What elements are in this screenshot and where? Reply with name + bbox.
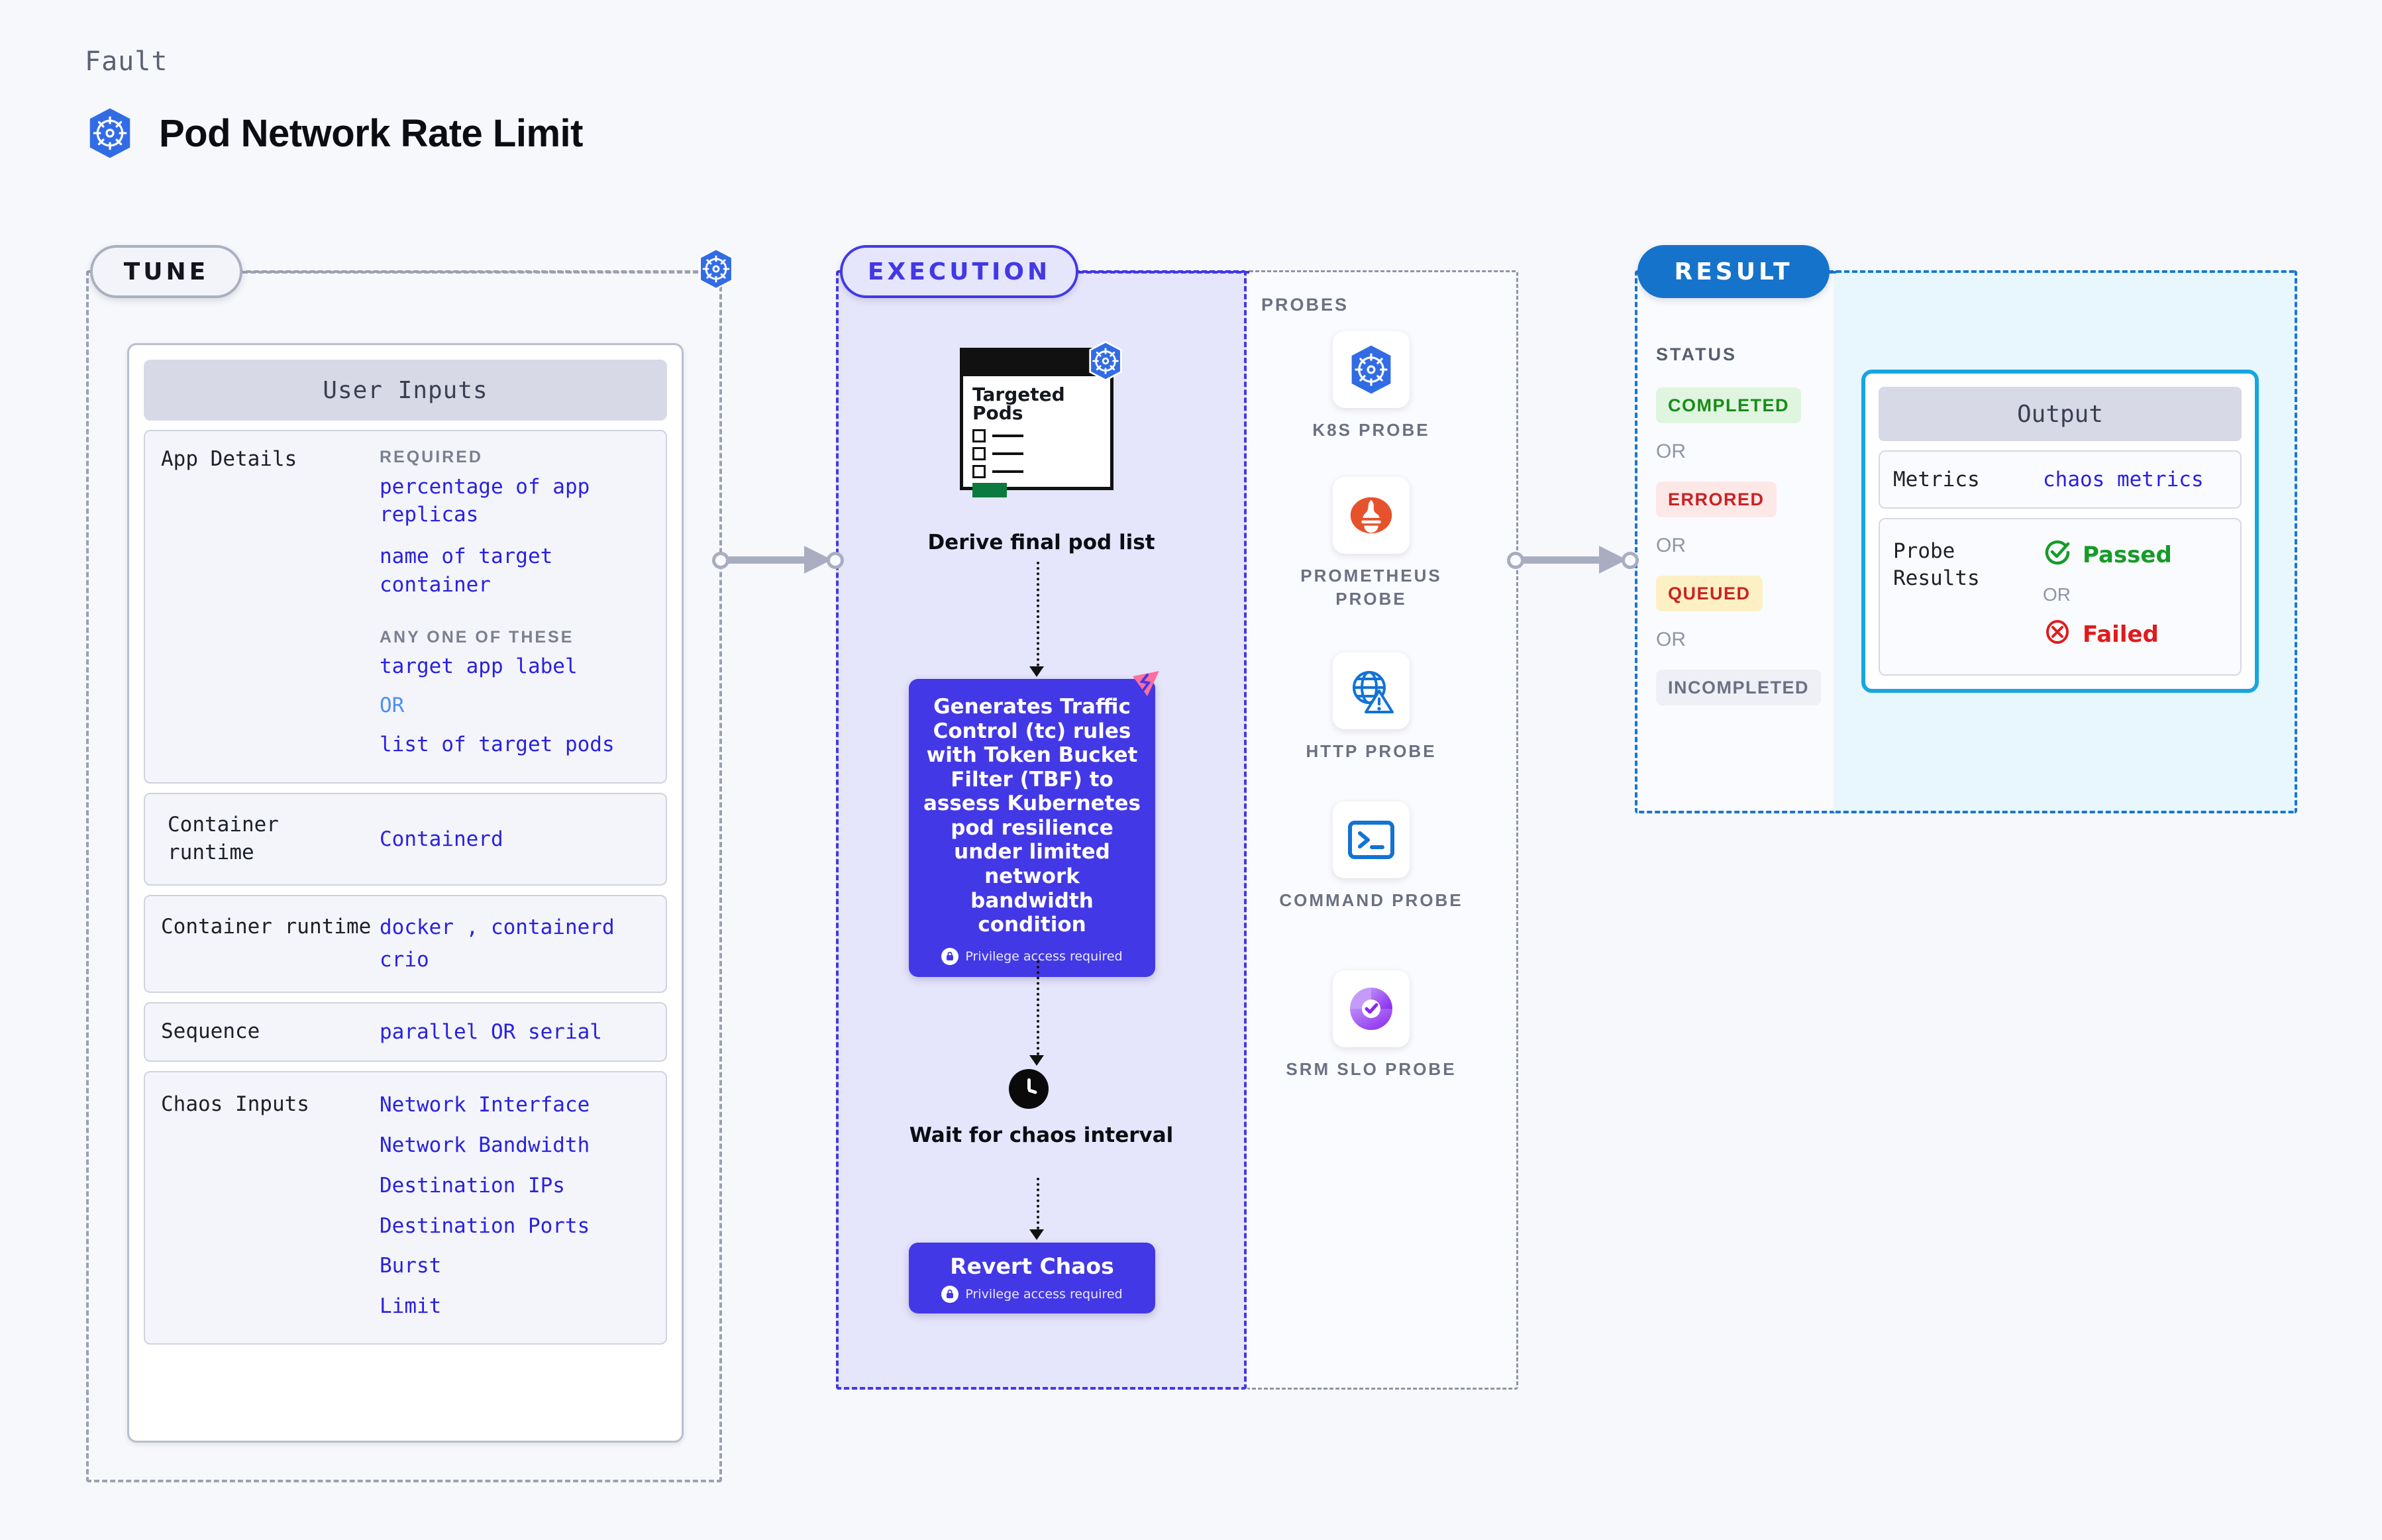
probe-item-srm-slo[interactable]: SRM SLO PROBE [1272,970,1471,1081]
chaos-action-card[interactable]: Generates Traffic Control (tc) rules wit… [909,679,1155,977]
globe-warning-icon [1333,652,1410,729]
list-item [972,429,1110,442]
privilege-note: Privilege access required [922,1286,1142,1303]
lock-icon [941,1286,958,1303]
value-item[interactable]: docker , containerd [380,913,650,942]
value-item[interactable]: Network Bandwidth [380,1131,650,1160]
clock-icon [1009,1069,1049,1109]
checkbox-icon [972,465,986,478]
status-badge-completed: COMPLETED [1656,387,1801,423]
row-label: App Details [161,446,373,474]
stage-badge-result[interactable]: RESULT [1637,245,1830,298]
probe-label: PROMETHEUS PROBE [1272,564,1471,611]
table-row: Probe Results Passed OR [1879,518,2242,676]
value-or: OR [380,692,650,720]
value-item[interactable]: chaos metrics [2043,468,2227,491]
table-row: Chaos Inputs Network Interface Network B… [144,1071,667,1345]
checkbox-icon [972,429,986,442]
kubernetes-icon [86,107,134,159]
passed-label: Passed [2083,542,2172,568]
value-item[interactable]: Burst [380,1252,650,1280]
privilege-note: Privilege access required [923,948,1141,965]
value-item[interactable]: Destination IPs [380,1172,650,1200]
tune-badge-connector [242,271,706,274]
page-title: Pod Network Rate Limit [159,111,583,156]
probe-label: K8S PROBE [1272,419,1471,442]
value-item[interactable]: Limit [380,1292,650,1321]
row-label: Container runtime [161,913,373,941]
probe-result-failed: Failed [2043,617,2227,652]
status-badge-incompleted: INCOMPLETED [1656,670,1821,705]
value-item[interactable]: list of target pods [380,731,650,759]
row-values: parallel OR serial [380,1018,650,1047]
group-caption: REQUIRED [380,446,650,469]
chaos-action-text: Generates Traffic Control (tc) rules wit… [923,695,1141,937]
list-item [972,465,1110,478]
probe-item-http[interactable]: HTTP PROBE [1272,652,1471,763]
connector-execution-to-result [1509,547,1641,572]
status-badge-errored: ERRORED [1656,482,1777,517]
user-inputs-title: User Inputs [144,360,667,421]
table-row: Metrics chaos metrics [1879,450,2242,509]
row-values: Containerd [380,825,650,854]
progress-bar [972,483,1007,497]
failed-label: Failed [2083,621,2159,648]
value-item[interactable]: Network Interface [380,1091,650,1119]
check-circle-icon [2043,538,2072,572]
value-item[interactable]: crio [380,946,650,974]
execution-badge-connector [1078,271,1249,274]
revert-chaos-card[interactable]: Revert Chaos Privilege access required [909,1243,1155,1313]
terminal-icon [1333,801,1410,878]
row-label: Metrics [1893,466,2032,493]
row-values: Network Interface Network Bandwidth Dest… [380,1091,650,1321]
table-row: App Details REQUIRED percentage of app r… [144,430,667,784]
user-inputs-card: User Inputs App Details REQUIRED percent… [127,343,684,1443]
value-item[interactable]: percentage of app replicas [380,473,650,530]
probe-item-command[interactable]: COMMAND PROBE [1272,801,1471,912]
srm-slo-icon [1333,970,1410,1047]
table-row: Container runtime Containerd [144,793,667,886]
list-item [972,447,1110,460]
table-row: Container runtime docker , containerd cr… [144,895,667,993]
eyebrow-label: Fault [85,46,168,77]
probe-item-k8s[interactable]: K8S PROBE [1272,331,1471,442]
step-label-derive-pod-list: Derive final pod list [836,530,1247,556]
status-badge-queued: QUEUED [1656,576,1763,611]
or-label: OR [1656,535,1686,557]
probe-label: HTTP PROBE [1272,740,1471,763]
row-label: Container runtime [161,811,373,867]
revert-chaos-title: Revert Chaos [922,1253,1142,1279]
value-item[interactable]: Destination Ports [380,1212,650,1241]
value-item[interactable]: name of target container [380,542,650,599]
output-card: Output Metrics chaos metrics Probe Resul… [1861,370,2259,693]
prometheus-icon [1333,477,1410,554]
page-title-row: Pod Network Rate Limit [86,107,583,159]
connector-tune-to-execution [714,547,847,572]
placeholder-line [992,452,1023,455]
row-values: chaos metrics [2043,468,2227,491]
x-circle-icon [2043,617,2072,652]
or-label: OR [1656,440,1686,463]
row-label: Sequence [161,1018,373,1046]
row-label: Chaos Inputs [161,1091,373,1119]
or-label: OR [1656,629,1686,651]
status-section-title: STATUS [1656,344,1737,365]
privilege-note-text: Privilege access required [965,949,1122,964]
checkbox-icon [972,447,986,460]
row-values: REQUIRED percentage of app replicas name… [380,446,650,762]
value-item[interactable]: parallel OR serial [380,1018,650,1047]
probe-label: COMMAND PROBE [1272,889,1471,912]
kubernetes-icon [1333,331,1410,408]
group-caption: ANY ONE OF THESE [380,626,650,649]
placeholder-line [992,435,1023,437]
probes-section-title: PROBES [1261,295,1349,315]
table-row: Sequence parallel OR serial [144,1002,667,1062]
step-label-wait-chaos-interval: Wait for chaos interval [836,1123,1247,1149]
privilege-note-text: Privilege access required [965,1287,1122,1302]
probe-result-passed: Passed [2043,538,2227,572]
lock-icon [941,948,958,965]
stage-badge-execution[interactable]: EXECUTION [840,245,1078,298]
output-title: Output [1879,387,2242,441]
pods-checklist [963,423,1110,478]
fault-diagram: Fault Pod Network Rate Limit [0,0,2382,1540]
row-label: Probe Results [1893,538,2032,652]
value-item[interactable]: target app label [380,652,650,681]
kubernetes-icon [1087,341,1124,384]
probe-label: SRM SLO PROBE [1272,1058,1471,1081]
probe-item-prometheus[interactable]: PROMETHEUS PROBE [1272,477,1471,611]
or-label: OR [2043,584,2227,605]
row-values: Passed OR Failed [2043,538,2227,652]
value-item[interactable]: Containerd [380,825,650,854]
litmus-chaos-icon [1130,670,1162,702]
stage-badge-tune[interactable]: TUNE [90,245,242,298]
placeholder-line [992,470,1023,473]
kubernetes-icon [697,248,735,293]
row-values: docker , containerd crio [380,913,650,974]
